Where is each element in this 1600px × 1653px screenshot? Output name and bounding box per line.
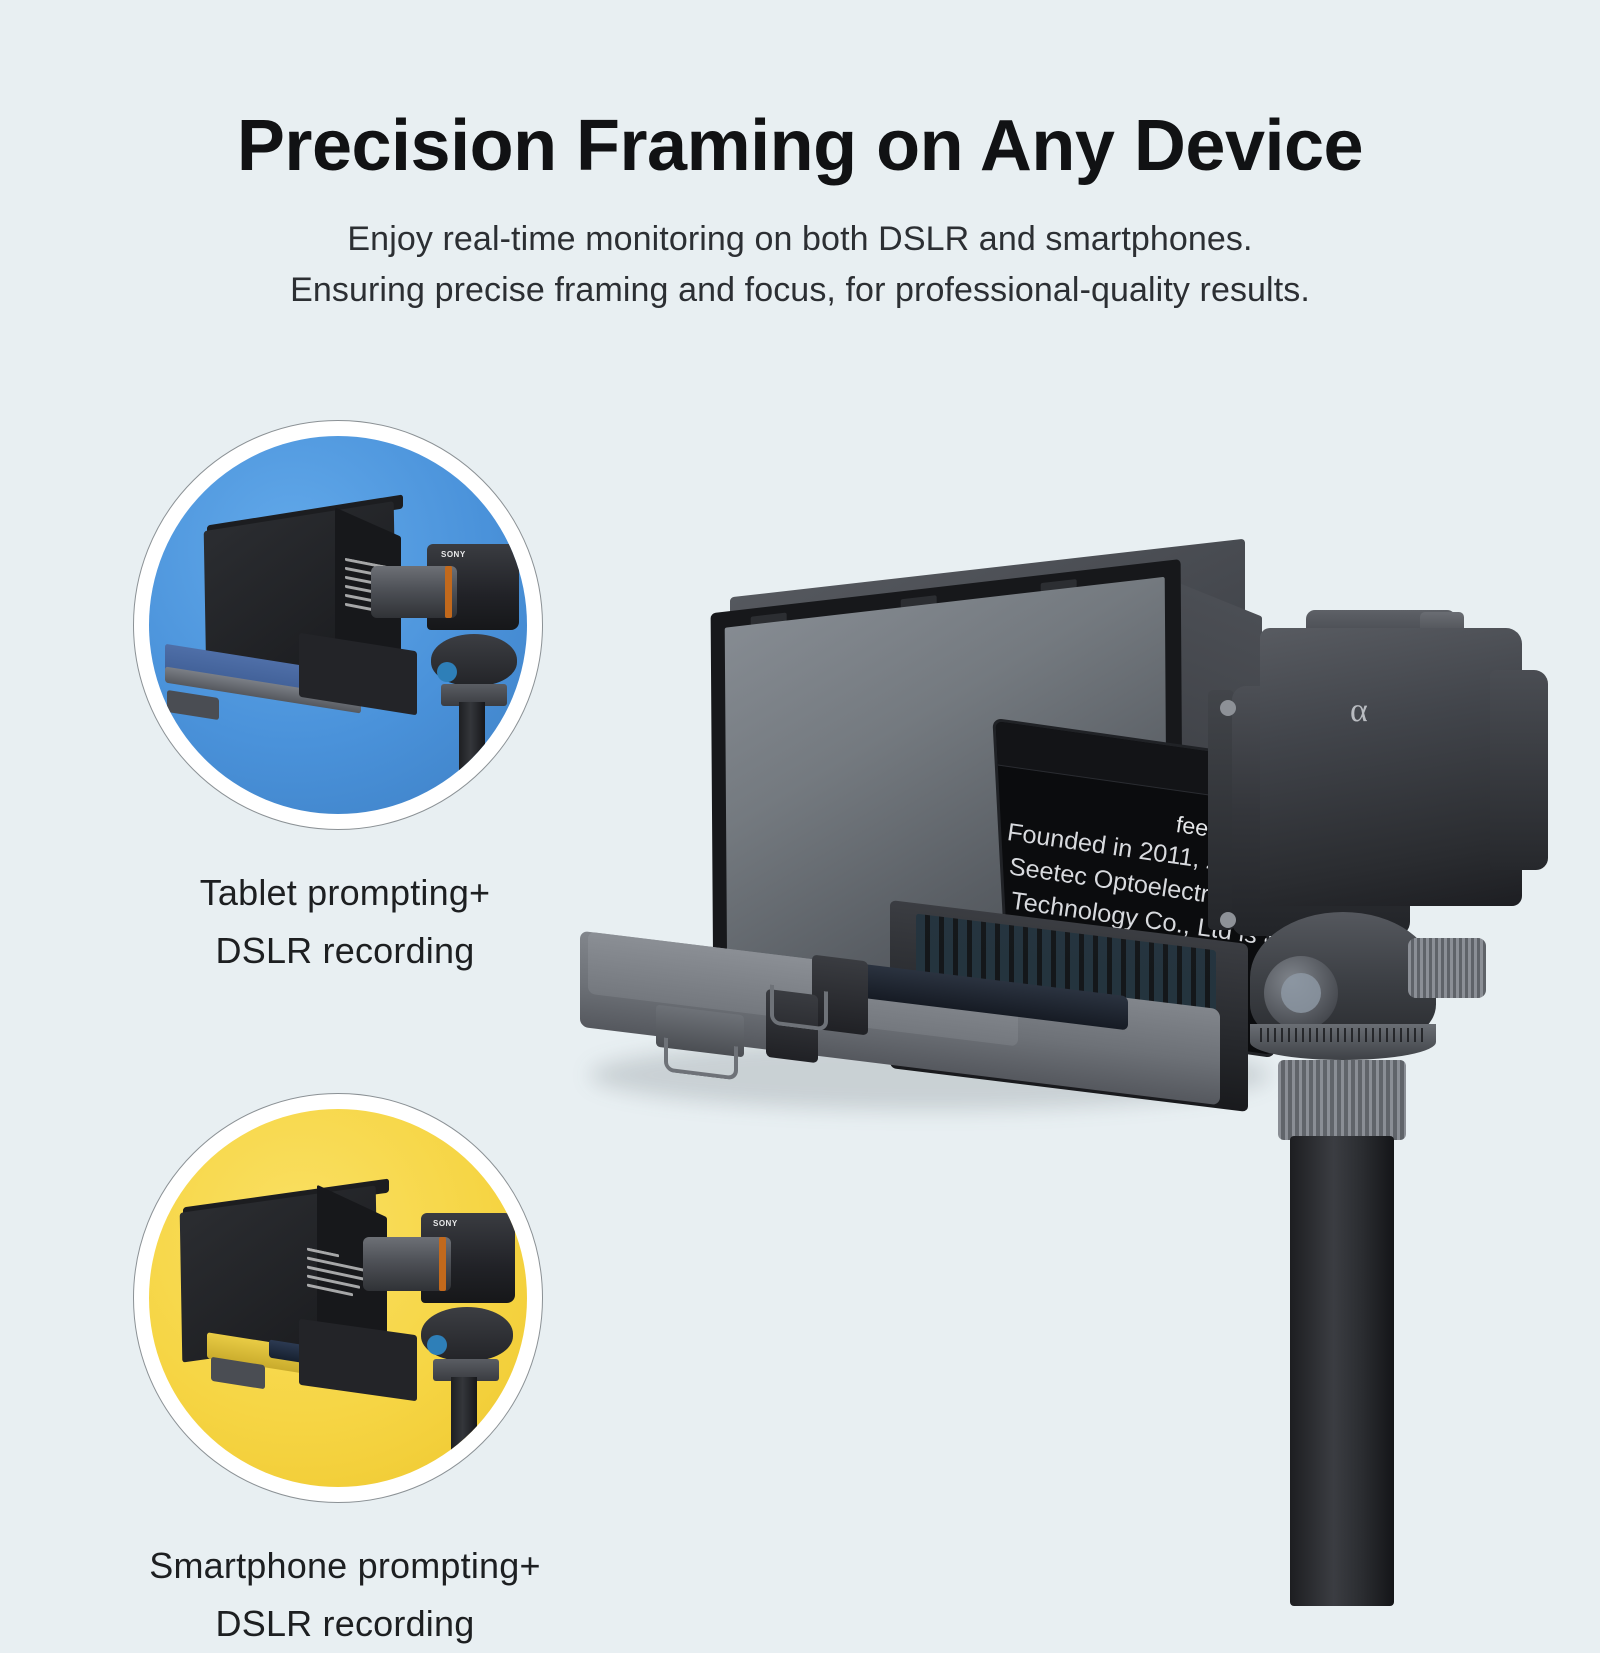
ball-head-lock-knob [437, 662, 457, 682]
subtitle-line-1: Enjoy real-time monitoring on both DSLR … [0, 214, 1600, 266]
holder-pivot-pin-bottom [1220, 912, 1236, 928]
hero-product-image: feelworl Founded in 2011, Zha Seetec Opt… [560, 540, 1600, 1600]
tripod-center-column [451, 1377, 477, 1487]
prompter-body [299, 1318, 417, 1401]
teleprompter-rig-smartphone-illustration: SONY [149, 1109, 527, 1487]
caption-line-2: DSLR recording [0, 1595, 690, 1653]
tripod-center-column [1290, 1136, 1394, 1606]
feature-photo-tablet-dslr: SONY [149, 436, 527, 814]
camera-brand-label: SONY [441, 550, 466, 559]
ball-head-tension-knob[interactable] [1408, 938, 1486, 998]
tripod-twist-lock-collar[interactable] [1278, 1060, 1406, 1140]
lens-mount-ring [445, 566, 452, 618]
ball-head-lock-knob [427, 1335, 447, 1355]
camera-lens [363, 1237, 451, 1291]
page-title: Precision Framing on Any Device [0, 0, 1600, 186]
feature-photo-ring-smartphone: SONY [133, 1093, 543, 1503]
subtitle-line-2: Ensuring precise framing and focus, for … [0, 265, 1600, 317]
lens-mount-ring [439, 1237, 446, 1291]
teleprompter-rig-tablet-illustration: SONY [149, 436, 527, 814]
tray-clamp-left [167, 690, 219, 720]
clamp-hook [770, 984, 828, 1031]
phone-holder-arm-left [1208, 690, 1234, 930]
feature-photo-smartphone-dslr: SONY [149, 1109, 527, 1487]
feature-photo-ring-tablet: SONY [133, 420, 543, 830]
dslr-camera-body [1260, 628, 1522, 906]
camera-hand-grip [1490, 670, 1548, 870]
subtitle-block: Enjoy real-time monitoring on both DSLR … [0, 214, 1600, 317]
ball-head-pan-lock[interactable] [1264, 956, 1338, 1030]
camera-alpha-logo: α [1350, 692, 1368, 730]
holder-pivot-pin-top [1220, 700, 1236, 716]
tripod-center-column [459, 702, 485, 814]
page-header: Precision Framing on Any Device Enjoy re… [0, 0, 1600, 317]
camera-brand-label: SONY [433, 1219, 458, 1228]
ball-head-degree-ticks [1260, 1028, 1426, 1042]
